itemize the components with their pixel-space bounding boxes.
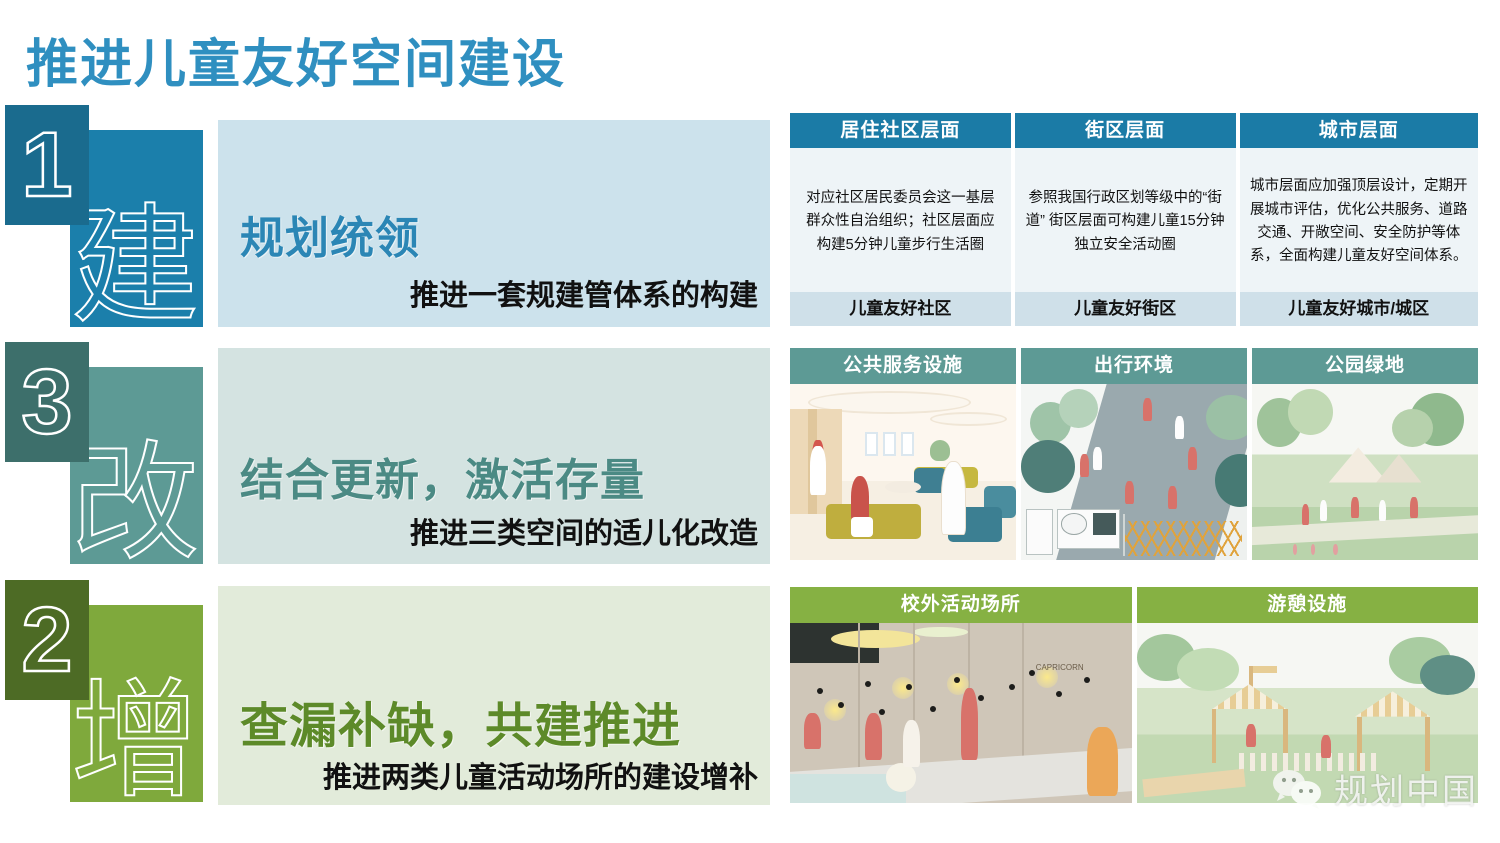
picture-card-park-green: 公园绿地 — [1252, 348, 1478, 560]
watermark-label: 规划中国 — [1334, 764, 1478, 813]
picture-card-public-service: 公共服务设施 — [790, 348, 1016, 560]
picture-header-after-school: 校外活动场所 — [790, 587, 1132, 623]
constellation-wall-illustration: CAPRICORN — [790, 623, 1132, 803]
constellation-caption: CAPRICORN — [1036, 663, 1084, 673]
row-1-panel-title: 规划统领 — [240, 202, 420, 266]
level-body-block: 参照我国行政区划等级中的“街道” 街区层面可构建儿童15分钟独立安全活动圈 — [1015, 148, 1236, 292]
picture-body-after-school: CAPRICORN — [790, 623, 1132, 803]
row-3-panel-title: 查漏补缺，共建推进 — [240, 686, 681, 756]
row-2-number-badge: 3 — [5, 342, 89, 462]
row-2-panel-title: 结合更新，激活存量 — [240, 444, 645, 508]
row-3-number-badge: 2 — [5, 580, 89, 700]
picture-card-travel-environment: 出行环境 — [1021, 348, 1247, 560]
picture-body-public-service — [790, 384, 1016, 560]
level-body-city: 城市层面应加强顶层设计，定期开展城市评估，优化公共服务、道路交通、开敞空间、安全… — [1240, 148, 1478, 292]
level-body-community: 对应社区居民委员会这一基层群众性自治组织；社区层面应构建5分钟儿童步行生活圈 — [790, 148, 1011, 292]
level-footer-community: 儿童友好社区 — [790, 292, 1011, 326]
row-3-number-glyph: 2 — [21, 594, 72, 686]
row-1-accent-block: 建 — [70, 130, 203, 327]
row-2-accent-block: 改 — [70, 367, 203, 564]
slide-canvas: 推进儿童友好空间建设 规划统领 推进一套规建管体系的构建 建 1 结合更新，激活… — [0, 0, 1500, 843]
level-header-block: 街区层面 — [1015, 113, 1236, 148]
park-green-illustration — [1252, 384, 1478, 560]
picture-header-travel-environment: 出行环境 — [1021, 348, 1247, 384]
row-1-accent-character: 建 — [71, 203, 199, 331]
row-1-number-badge: 1 — [5, 105, 89, 225]
row-3-content-panel: 查漏补缺，共建推进 推进两类儿童活动场所的建设增补 — [218, 586, 770, 805]
level-footer-city: 儿童友好城市/城区 — [1240, 292, 1478, 326]
picture-header-park-green: 公园绿地 — [1252, 348, 1478, 384]
picture-header-public-service: 公共服务设施 — [790, 348, 1016, 384]
row-3-panel-subtitle: 推进两类儿童活动场所的建设增补 — [323, 754, 758, 796]
row-1-content-panel: 规划统领 推进一套规建管体系的构建 — [218, 120, 770, 327]
row-1-number-glyph: 1 — [21, 119, 72, 211]
picture-body-travel-environment — [1021, 384, 1247, 560]
level-column-block: 街区层面 参照我国行政区划等级中的“街道” 街区层面可构建儿童15分钟独立安全活… — [1015, 113, 1236, 326]
level-column-community: 居住社区层面 对应社区居民委员会这一基层群众性自治组织；社区层面应构建5分钟儿童… — [790, 113, 1011, 326]
picture-body-park-green — [1252, 384, 1478, 560]
level-header-city: 城市层面 — [1240, 113, 1478, 148]
picture-card-after-school: 校外活动场所 — [790, 587, 1132, 803]
row-2-panel-subtitle: 推进三类空间的适儿化改造 — [410, 510, 758, 552]
wechat-icon — [1270, 768, 1326, 810]
row-2-content-panel: 结合更新，激活存量 推进三类空间的适儿化改造 — [218, 348, 770, 564]
row-3-accent-character: 增 — [71, 678, 199, 806]
picture-grid-renovation: 公共服务设施 出行环境 — [790, 348, 1478, 560]
level-header-community: 居住社区层面 — [790, 113, 1011, 148]
street-walking-illustration — [1021, 384, 1247, 560]
picture-header-play-facility: 游憩设施 — [1137, 587, 1479, 623]
community-interior-illustration — [790, 384, 1016, 560]
level-table: 居住社区层面 对应社区居民委员会这一基层群众性自治组织；社区层面应构建5分钟儿童… — [790, 113, 1478, 326]
watermark: 规划中国 — [1270, 764, 1478, 813]
level-footer-block: 儿童友好街区 — [1015, 292, 1236, 326]
page-title: 推进儿童友好空间建设 — [26, 22, 566, 97]
row-1-panel-subtitle: 推进一套规建管体系的构建 — [410, 272, 758, 314]
row-3-accent-block: 增 — [70, 605, 203, 802]
level-column-city: 城市层面 城市层面应加强顶层设计，定期开展城市评估，优化公共服务、道路交通、开敞… — [1240, 113, 1478, 326]
row-2-accent-character: 改 — [71, 440, 199, 568]
row-2-number-glyph: 3 — [21, 356, 72, 448]
